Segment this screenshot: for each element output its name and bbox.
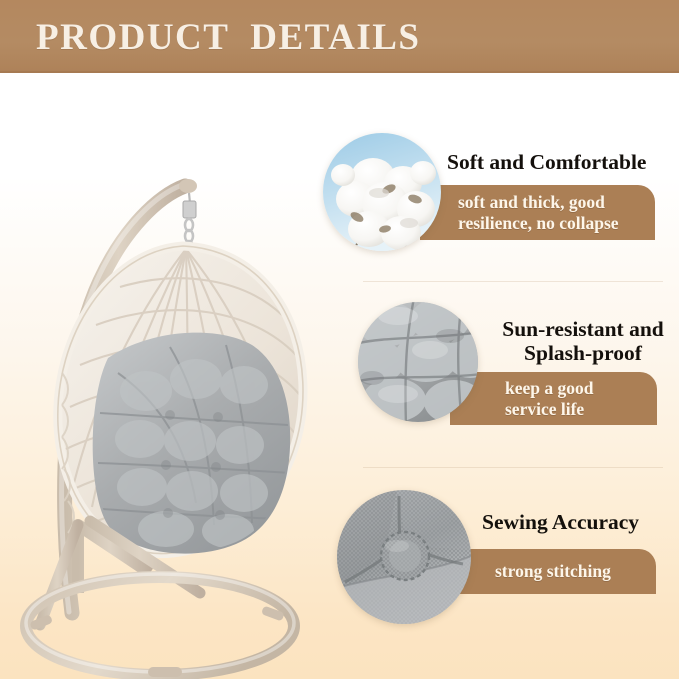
- page-title: PRODUCT DETAILS: [36, 16, 420, 59]
- feature-sun-resistant-and-splash-proof: Sun-resistant and Splash-proof keep a go…: [350, 295, 679, 443]
- feature-sewing-accuracy: Sewing Accuracy strong stitching: [330, 483, 679, 629]
- feature-title: Soft and Comfortable: [447, 150, 646, 174]
- feature-title: Sun-resistant and Splash-proof: [492, 317, 674, 365]
- feature-soft-and-comfortable: Soft and Comfortable soft and thick, goo…: [315, 125, 679, 265]
- feature-caption: strong stitching: [450, 549, 656, 594]
- product-details-page: PRODUCT DETAILS: [0, 0, 679, 679]
- cushion-closeup-photo: [358, 302, 478, 422]
- feature-caption: keep a good service life: [450, 372, 657, 425]
- header-banner: PRODUCT DETAILS: [0, 0, 679, 73]
- product-photo: [0, 73, 330, 679]
- stitching-closeup-photo: [337, 490, 471, 624]
- feature-separator: [363, 467, 663, 468]
- feature-separator: [363, 281, 663, 282]
- feature-caption: soft and thick, good resilience, no coll…: [420, 185, 655, 240]
- cotton-bolls-photo: [323, 133, 441, 251]
- feature-title: Sewing Accuracy: [482, 510, 639, 534]
